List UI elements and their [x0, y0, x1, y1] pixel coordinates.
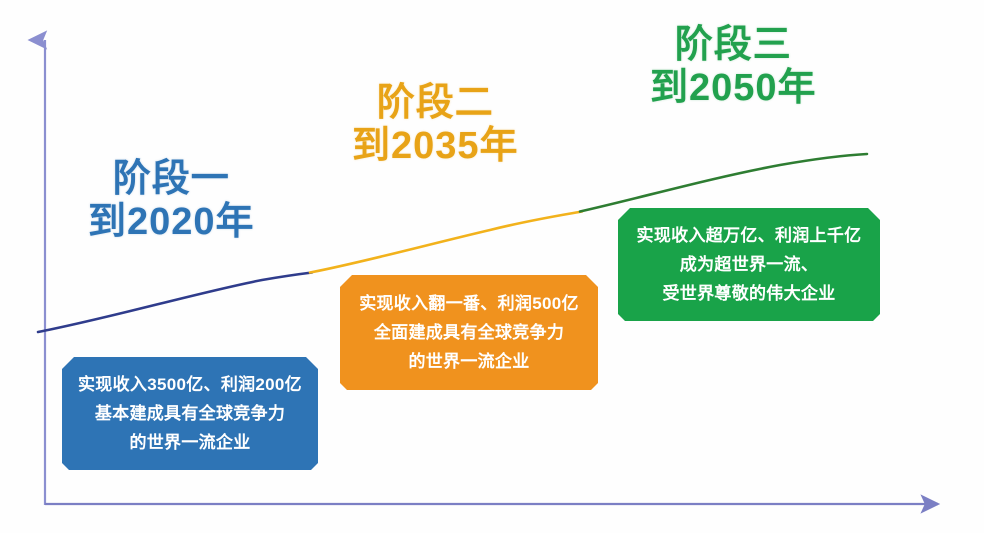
phase-2-title-line2: 到2035年 [352, 125, 519, 168]
phase-2-goal-line2: 全面建成具有全球竞争力 [374, 318, 564, 347]
phase-3-goal-line2: 成为超世界一流、 [680, 250, 818, 279]
phase-3-title: 阶段三 到2050年 [650, 24, 817, 109]
phase-3-goal-line3: 受世界尊敬的伟大企业 [663, 279, 836, 308]
phase-3-goal-line1: 实现收入超万亿、利润上千亿 [637, 221, 862, 250]
phase-1-goal-line2: 基本建成具有全球竞争力 [95, 399, 285, 428]
phase-1-goal-banner: 实现收入3500亿、利润200亿 基本建成具有全球竞争力 的世界一流企业 [62, 357, 318, 470]
phase-1-title: 阶段一 到2020年 [88, 158, 255, 243]
phase-3-goal-banner: 实现收入超万亿、利润上千亿 成为超世界一流、 受世界尊敬的伟大企业 [618, 208, 880, 321]
phase-3-title-line1: 阶段三 [650, 24, 817, 67]
phase-2-goal-line3: 的世界一流企业 [408, 347, 529, 376]
phase-1-title-line2: 到2020年 [88, 201, 255, 244]
phase-2-title: 阶段二 到2035年 [352, 82, 519, 167]
phase-1-goal-line3: 的世界一流企业 [129, 428, 250, 457]
strategy-roadmap-figure: 阶段一 到2020年 阶段二 到2035年 阶段三 到2050年 实现收入350… [0, 0, 984, 533]
growth-curve-phase-1 [38, 273, 312, 333]
growth-curve-phase-3 [580, 154, 867, 212]
growth-curve-phase-2 [310, 212, 582, 273]
phase-1-goal-line1: 实现收入3500亿、利润200亿 [78, 370, 302, 399]
phase-2-title-line1: 阶段二 [352, 82, 519, 125]
phase-2-goal-line1: 实现收入翻一番、利润500亿 [359, 289, 579, 318]
phase-2-goal-banner: 实现收入翻一番、利润500亿 全面建成具有全球竞争力 的世界一流企业 [340, 275, 598, 390]
phase-1-title-line1: 阶段一 [88, 158, 255, 201]
phase-3-title-line2: 到2050年 [650, 67, 817, 110]
